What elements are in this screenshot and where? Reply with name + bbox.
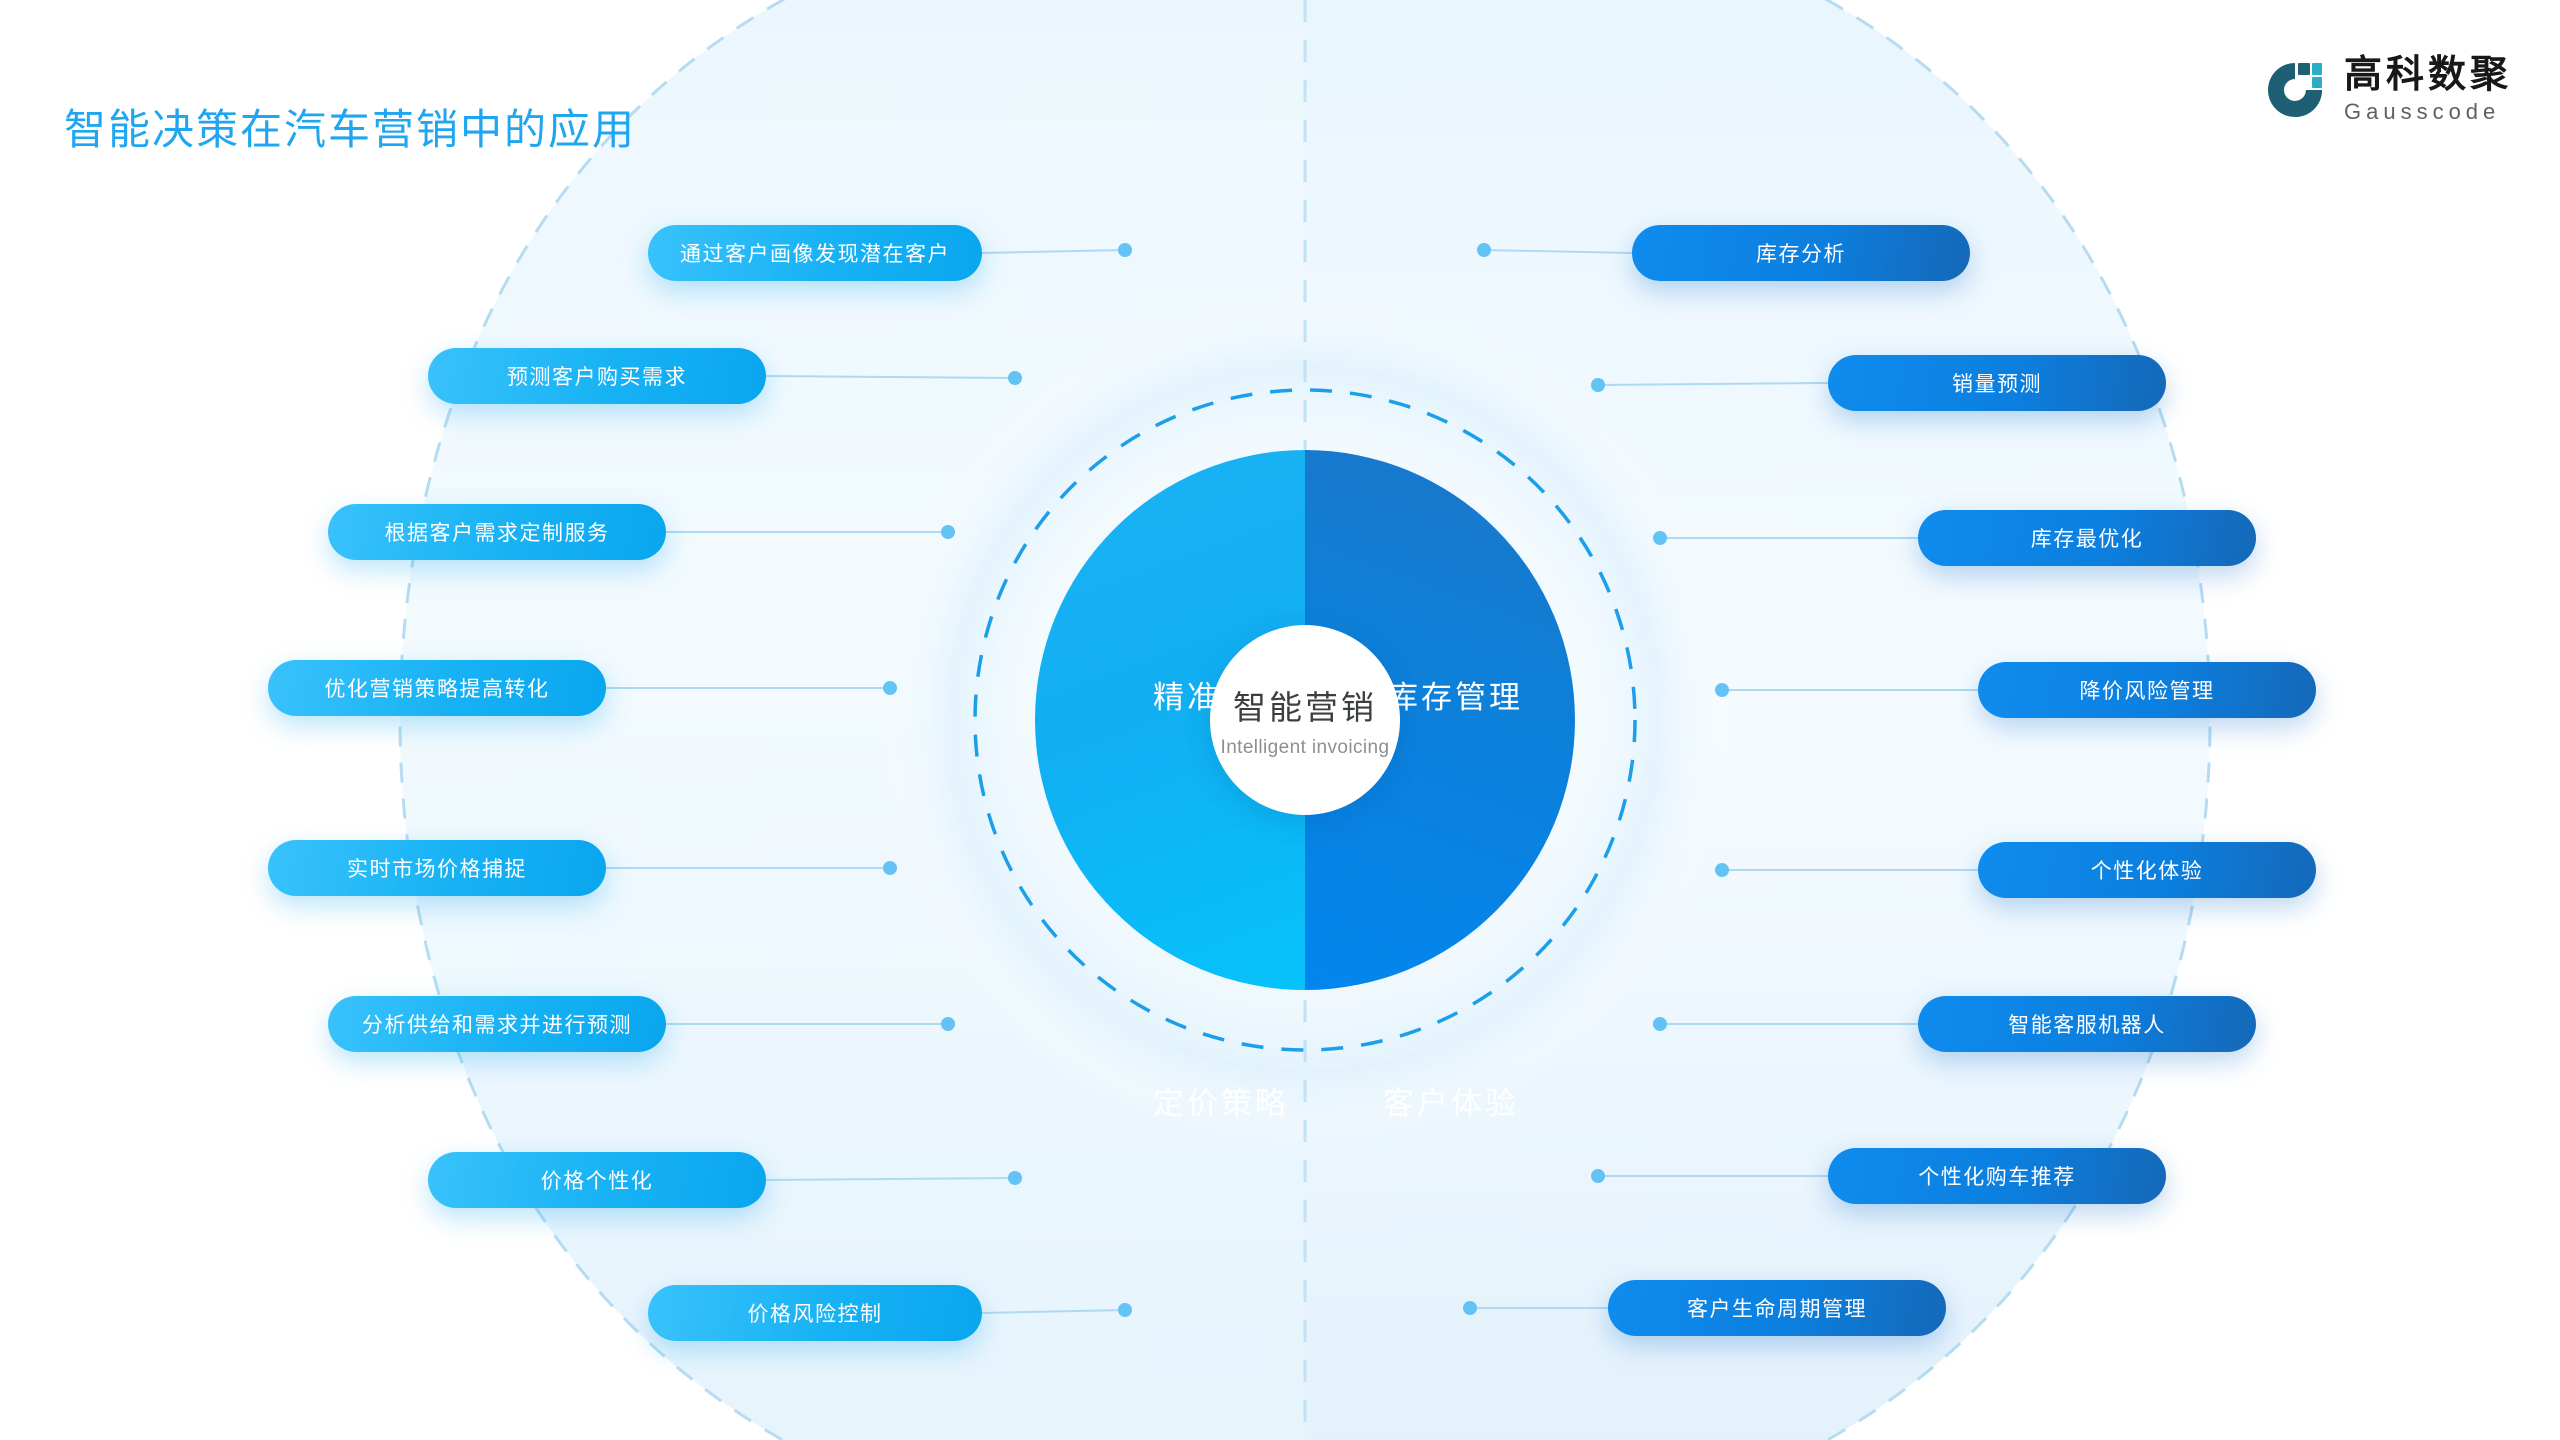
connector-node-right-5: [1715, 863, 1729, 877]
capability-pill-left-3[interactable]: 根据客户需求定制服务: [328, 504, 666, 560]
connector-node-left-1: [1118, 243, 1132, 257]
quadrant-label-top-right: 库存管理: [1387, 672, 1523, 717]
capability-pill-right-1[interactable]: 库存分析: [1632, 225, 1970, 281]
hub-title-cn: 智能营销: [1233, 681, 1377, 729]
capability-pill-left-4[interactable]: 优化营销策略提高转化: [268, 660, 606, 716]
gausscode-logo-icon: [2264, 59, 2326, 121]
connector-node-right-2: [1591, 378, 1605, 392]
page-title: 智能决策在汽车营销中的应用: [64, 96, 636, 157]
connector-node-left-7: [1008, 1171, 1022, 1185]
brand-logo: 高科数聚 Gausscode: [2264, 56, 2512, 123]
quadrant-label-bottom-right: 客户体验: [1383, 1078, 1519, 1123]
capability-pill-right-5[interactable]: 个性化体验: [1978, 842, 2316, 898]
hub-subtitle-en: Intelligent invoicing: [1221, 737, 1390, 759]
connector-node-left-5: [883, 861, 897, 875]
connector-node-left-6: [941, 1017, 955, 1031]
capability-pill-left-5[interactable]: 实时市场价格捕捉: [268, 840, 606, 896]
capability-pill-right-8[interactable]: 客户生命周期管理: [1608, 1280, 1946, 1336]
connector-node-right-3: [1653, 531, 1667, 545]
capability-pill-right-6[interactable]: 智能客服机器人: [1918, 996, 2256, 1052]
capability-pill-right-3[interactable]: 库存最优化: [1918, 510, 2256, 566]
center-hub: 智能营销 Intelligent invoicing: [1210, 625, 1400, 815]
capability-pill-left-7[interactable]: 价格个性化: [428, 1152, 766, 1208]
logo-text-cn: 高科数聚: [2344, 56, 2512, 94]
capability-pill-left-6[interactable]: 分析供给和需求并进行预测: [328, 996, 666, 1052]
connector-node-right-1: [1477, 243, 1491, 257]
infographic-canvas: 智能决策在汽车营销中的应用 高科数聚 Gausscode 精准营销 库存管理 定…: [0, 0, 2560, 1440]
quadrant-label-bottom-left: 定价策略: [1153, 1078, 1289, 1123]
capability-pill-right-4[interactable]: 降价风险管理: [1978, 662, 2316, 718]
capability-pill-left-8[interactable]: 价格风险控制: [648, 1285, 982, 1341]
connector-node-left-8: [1118, 1303, 1132, 1317]
connector-node-right-4: [1715, 683, 1729, 697]
connector-node-left-2: [1008, 371, 1022, 385]
capability-pill-left-1[interactable]: 通过客户画像发现潜在客户: [648, 225, 982, 281]
logo-text-en: Gausscode: [2344, 101, 2512, 123]
connector-node-right-8: [1463, 1301, 1477, 1315]
connector-node-left-3: [941, 525, 955, 539]
capability-pill-left-2[interactable]: 预测客户购买需求: [428, 348, 766, 404]
connector-node-right-6: [1653, 1017, 1667, 1031]
connector-node-left-4: [883, 681, 897, 695]
connector-node-right-7: [1591, 1169, 1605, 1183]
capability-pill-right-2[interactable]: 销量预测: [1828, 355, 2166, 411]
capability-pill-right-7[interactable]: 个性化购车推荐: [1828, 1148, 2166, 1204]
